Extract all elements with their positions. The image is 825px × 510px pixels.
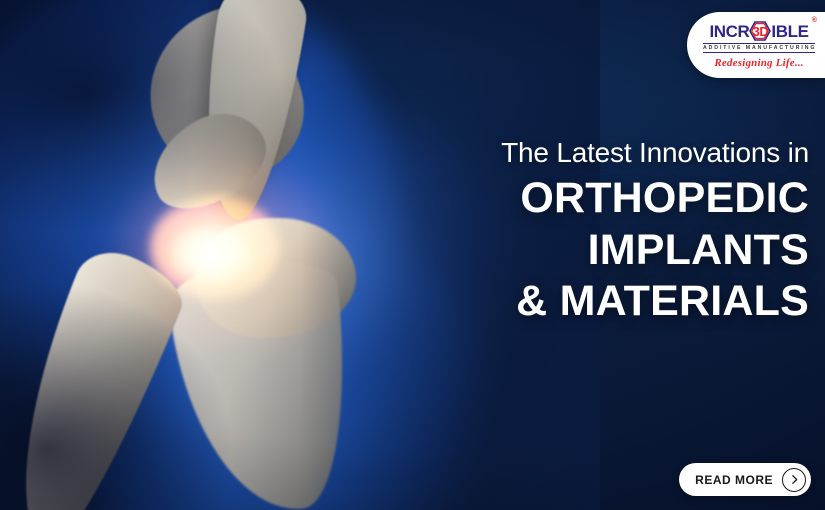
- logo-word-before: INCR: [709, 23, 749, 40]
- logo-subtitle: ADDITIVE MANUFACTURING: [703, 43, 815, 53]
- headline-line-3: IMPLANTS: [501, 225, 809, 276]
- hexagon-3d-icon: 3D: [749, 21, 771, 41]
- headline-line-4: & MATERIALS: [501, 276, 809, 327]
- brand-logo[interactable]: INCR 3D IBLE ® ADDITIVE MANUFACTURING Re…: [687, 12, 825, 78]
- registered-trademark-icon: ®: [812, 17, 817, 24]
- hero-banner: INCR 3D IBLE ® ADDITIVE MANUFACTURING Re…: [0, 0, 825, 510]
- chevron-right-icon[interactable]: [782, 468, 806, 492]
- read-more-button[interactable]: READ MORE: [679, 463, 811, 496]
- headline-line-2: ORTHOPEDIC: [501, 173, 809, 224]
- logo-hex-text: 3D: [753, 25, 769, 38]
- hero-headline: The Latest Innovations in ORTHOPEDIC IMP…: [501, 138, 809, 327]
- logo-tagline: Redesigning Life...: [714, 57, 803, 69]
- read-more-label: READ MORE: [695, 473, 773, 487]
- logo-wordmark: INCR 3D IBLE ®: [709, 21, 808, 41]
- logo-word-after: IBLE: [771, 23, 808, 40]
- headline-line-1: The Latest Innovations in: [501, 138, 809, 167]
